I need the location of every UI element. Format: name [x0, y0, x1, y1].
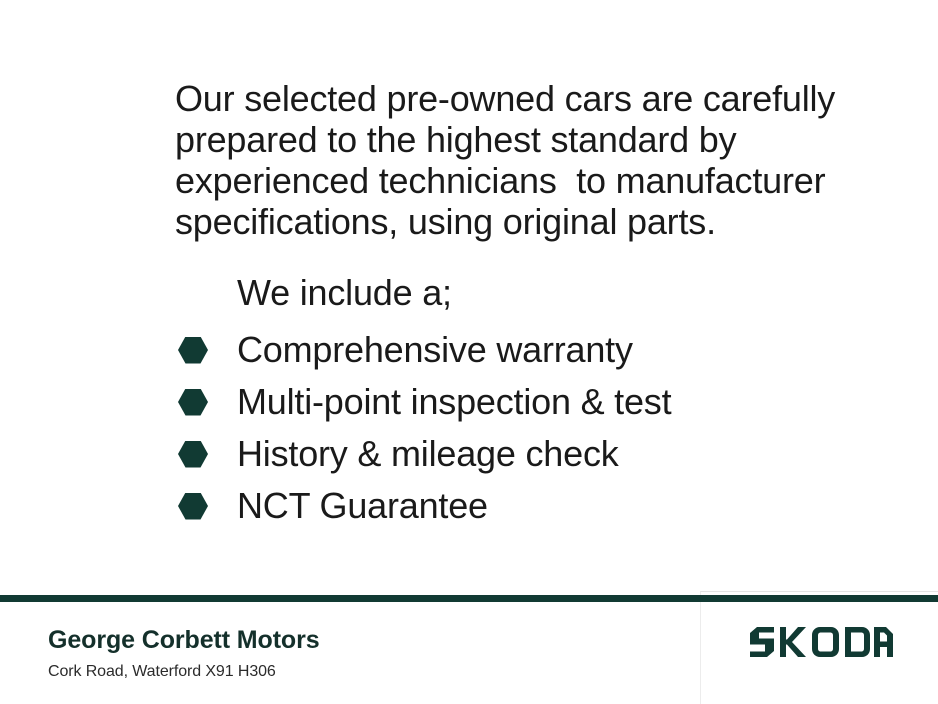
dealer-name: George Corbett Motors	[48, 625, 320, 655]
slide-canvas: Our selected pre-owned cars are carefull…	[0, 0, 938, 704]
list-item: History & mileage check	[178, 428, 671, 480]
list-item-label: Comprehensive warranty	[237, 330, 633, 370]
include-lead-text: We include a;	[237, 272, 452, 314]
list-item-label: History & mileage check	[237, 434, 619, 474]
list-item: NCT Guarantee	[178, 480, 671, 532]
footer-divider-rule	[0, 595, 938, 602]
hexagon-bullet-icon	[178, 337, 208, 364]
intro-line: Our selected pre-owned cars are carefull…	[175, 78, 815, 119]
intro-line: prepared to the highest standard by	[175, 119, 815, 160]
list-item: Multi-point inspection & test	[178, 376, 671, 428]
list-item-label: NCT Guarantee	[237, 486, 488, 526]
hexagon-bullet-icon	[178, 389, 208, 416]
inclusions-list: Comprehensive warranty Multi-point inspe…	[178, 324, 671, 532]
intro-line: experienced technicians to manufacturer	[175, 160, 815, 201]
list-item-label: Multi-point inspection & test	[237, 382, 671, 422]
dealer-address: Cork Road, Waterford X91 H306	[48, 662, 276, 682]
hexagon-bullet-icon	[178, 493, 208, 520]
intro-paragraph: Our selected pre-owned cars are carefull…	[175, 78, 815, 242]
list-item: Comprehensive warranty	[178, 324, 671, 376]
hexagon-bullet-icon	[178, 441, 208, 468]
intro-line: specifications, using original parts.	[175, 201, 815, 242]
skoda-wordmark-icon	[748, 626, 893, 658]
